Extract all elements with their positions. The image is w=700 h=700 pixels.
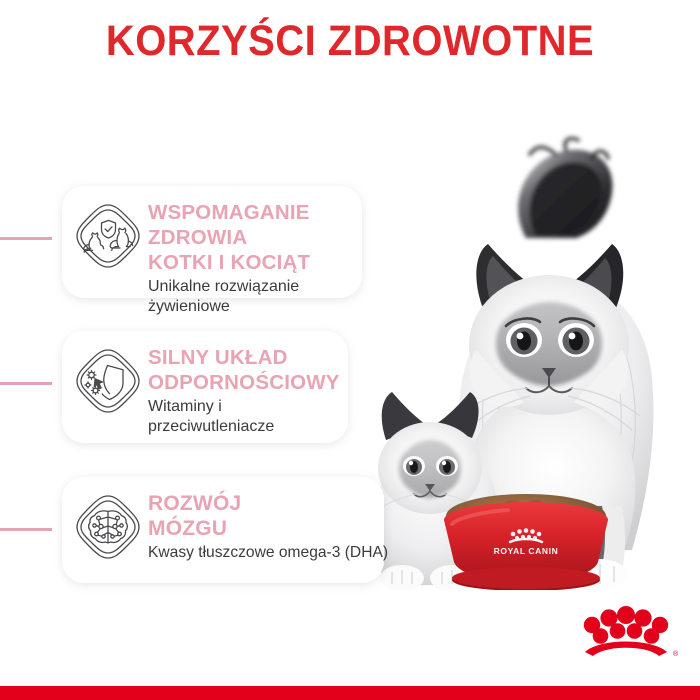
trademark-symbol: ® xyxy=(673,650,679,658)
benefit-card-kitten-health: WSPOMAGANIE ZDROWIA KOTKI I KOCIĄT Unika… xyxy=(62,186,362,298)
benefit-subtext: Witaminy i przeciwutleniacze xyxy=(148,397,334,437)
benefit-text-block: ROZWÓJ MÓZGU Kwasy tłuszczowe omega-3 (D… xyxy=(148,489,370,563)
cats-photo: ROYAL CANIN xyxy=(340,110,700,590)
cat-and-kitten-shield-icon xyxy=(74,202,142,270)
benefit-subtext: Unikalne rozwiązanie żywieniowe xyxy=(148,277,348,317)
shield-germs-icon xyxy=(74,347,142,415)
brain-icon xyxy=(74,493,142,561)
connector-line-3 xyxy=(0,528,52,531)
page-title: KORZYŚCI ZDROWOTNE xyxy=(25,16,676,66)
food-bowl: ROYAL CANIN xyxy=(444,494,608,590)
connector-line-1 xyxy=(0,237,52,240)
benefit-card-brain: ROZWÓJ MÓZGU Kwasy tłuszczowe omega-3 (D… xyxy=(62,477,384,583)
royal-canin-crown-logo: ® xyxy=(570,592,682,664)
benefit-heading: ROZWÓJ MÓZGU xyxy=(148,491,370,541)
connector-line-2 xyxy=(0,382,52,385)
svg-text:ROYAL CANIN: ROYAL CANIN xyxy=(494,546,559,556)
infographic-canvas: KORZYŚCI ZDROWOTNE xyxy=(0,0,700,700)
bottom-accent-bar xyxy=(0,686,700,700)
benefit-card-immunity: SILNY UKŁAD ODPORNOŚCIOWY Witaminy i prz… xyxy=(62,331,348,443)
benefit-text-block: WSPOMAGANIE ZDROWIA KOTKI I KOCIĄT Unika… xyxy=(148,198,348,317)
benefit-heading: WSPOMAGANIE ZDROWIA KOTKI I KOCIĄT xyxy=(148,200,348,275)
benefit-heading: SILNY UKŁAD ODPORNOŚCIOWY xyxy=(148,345,334,395)
benefit-text-block: SILNY UKŁAD ODPORNOŚCIOWY Witaminy i prz… xyxy=(148,343,334,437)
benefit-subtext: Kwasy tłuszczowe omega-3 (DHA) xyxy=(148,543,370,563)
